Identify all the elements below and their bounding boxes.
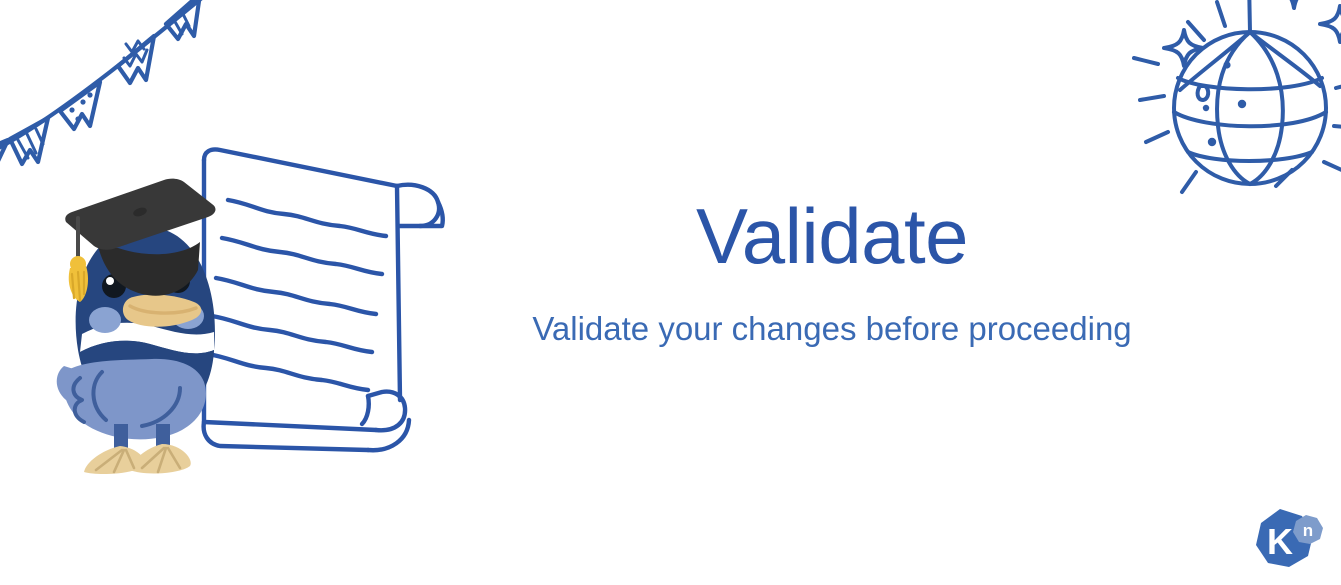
logo-mark-letter: K	[1267, 521, 1293, 562]
graduate-bird-with-scroll	[52, 138, 462, 476]
disco-ball-icon	[1124, 0, 1341, 226]
page-subtitle: Validate your changes before proceeding	[462, 308, 1202, 349]
logo-badge-letter: n	[1303, 521, 1313, 540]
certificate-scroll-icon	[204, 149, 443, 450]
slide-canvas: Validate Validate your changes before pr…	[0, 0, 1341, 585]
kn-logo[interactable]: K n	[1249, 505, 1325, 577]
page-title: Validate	[462, 196, 1202, 278]
kn-bird-mascot	[57, 179, 216, 474]
slide-text-block: Validate Validate your changes before pr…	[462, 196, 1202, 349]
